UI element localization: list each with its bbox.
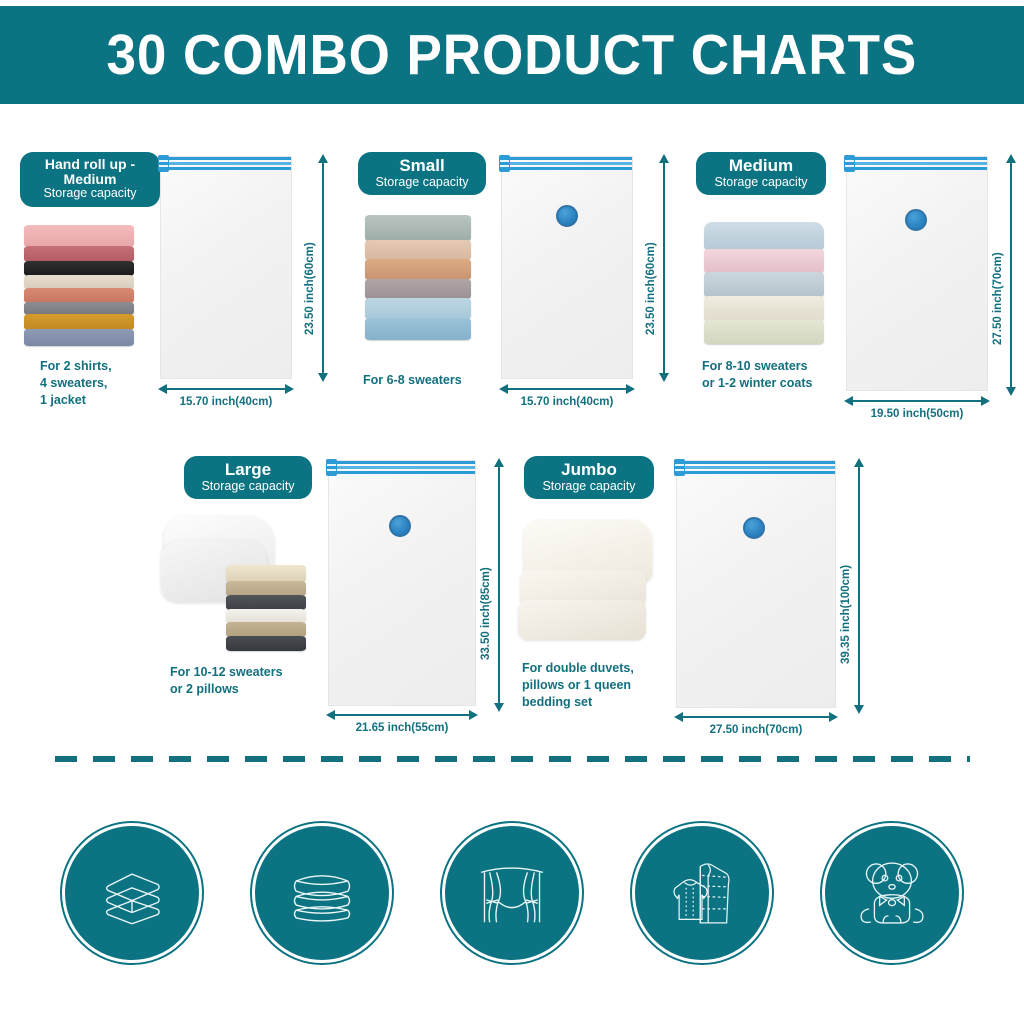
product-name: Medium (706, 157, 816, 175)
zipper-slider-icon (674, 459, 685, 476)
teddy-bear-icon (822, 823, 962, 963)
zipper-slider-icon (158, 155, 169, 172)
width-dimension-arrow (166, 388, 286, 390)
air-valve-icon (556, 205, 578, 227)
product-subtitle: Storage capacity (30, 187, 150, 200)
product-name: Large (194, 461, 302, 479)
dashed-divider (55, 756, 970, 762)
air-valve-icon (389, 515, 411, 537)
header-banner: 30 COMBO PRODUCT CHARTS (0, 6, 1024, 104)
height-dimension-arrow (322, 162, 324, 374)
height-dimension-label: 27.50 inch(70cm) (992, 252, 1004, 345)
width-dimension-arrow (334, 714, 470, 716)
product-label-pill: Jumbo Storage capacity (524, 456, 654, 499)
product-card-large: Large Storage capacity For 10-12 sweater… (160, 452, 500, 732)
goods-illustration-folded-duvet (518, 520, 658, 652)
width-dimension-arrow (682, 716, 830, 718)
width-dimension-arrow (852, 400, 982, 402)
product-subtitle: Storage capacity (194, 480, 302, 493)
width-dimension-arrow (507, 388, 627, 390)
zipper-strip (847, 157, 987, 170)
product-subtitle: Storage capacity (706, 176, 816, 189)
product-name: Small (368, 157, 476, 175)
zipper-strip (329, 461, 475, 474)
product-label-pill: Medium Storage capacity (696, 152, 826, 195)
width-dimension-label: 27.50 inch(70cm) (676, 724, 836, 736)
storage-bag (328, 460, 476, 706)
height-dimension-arrow (1010, 162, 1012, 388)
page-title: 30 COMBO PRODUCT CHARTS (107, 22, 918, 88)
capacity-description: For 2 shirts, 4 sweaters, 1 jacket (40, 358, 170, 409)
pillows-icon (252, 823, 392, 963)
height-dimension-arrow (663, 162, 665, 374)
height-dimension-label: 23.50 inch(60cm) (645, 242, 657, 335)
product-card-medium: Medium Storage capacity For 8-10 sweater… (694, 148, 1024, 423)
goods-illustration-folded-blankets (704, 216, 824, 344)
width-dimension-label: 19.50 inch(50cm) (846, 408, 988, 420)
height-dimension-label: 23.50 inch(60cm) (304, 242, 316, 335)
zipper-strip (502, 157, 632, 170)
air-valve-icon (905, 209, 927, 231)
sweater-jacket-icon (632, 823, 772, 963)
height-dimension-arrow (858, 466, 860, 706)
zipper-slider-icon (844, 155, 855, 172)
goods-illustration-folded-sweaters (365, 210, 471, 340)
air-valve-icon (743, 517, 765, 539)
goods-illustration-folded-clothes (24, 216, 134, 346)
product-chart-page: 30 COMBO PRODUCT CHARTS Hand roll up -Me… (0, 0, 1024, 1024)
goods-illustration-pillow-and-towels (160, 510, 312, 660)
zipper-strip (161, 157, 291, 170)
width-dimension-label: 15.70 inch(40cm) (160, 396, 292, 408)
folded-blankets-icon (62, 823, 202, 963)
zipper-strip (677, 461, 835, 474)
product-name: Hand roll up -Medium (30, 157, 150, 186)
height-dimension-label: 33.50 inch(85cm) (480, 567, 492, 660)
product-subtitle: Storage capacity (534, 480, 644, 493)
product-card-small: Small Storage capacity For 6-8 sweaters … (355, 148, 685, 423)
zipper-slider-icon (326, 459, 337, 476)
width-dimension-label: 21.65 inch(55cm) (328, 722, 476, 734)
zipper-slider-icon (499, 155, 510, 172)
usage-icon-row (0, 818, 1024, 968)
product-card-hand-roll-up: Hand roll up -Medium Storage capacity Fo… (14, 148, 344, 423)
product-label-pill: Hand roll up -Medium Storage capacity (20, 152, 160, 207)
height-dimension-label: 39.35 inch(100cm) (840, 565, 852, 664)
curtains-icon (442, 823, 582, 963)
product-name: Jumbo (534, 461, 644, 479)
product-label-pill: Small Storage capacity (358, 152, 486, 195)
storage-bag (676, 460, 836, 708)
product-label-pill: Large Storage capacity (184, 456, 312, 499)
storage-bag (160, 156, 292, 379)
width-dimension-label: 15.70 inch(40cm) (501, 396, 633, 408)
product-subtitle: Storage capacity (368, 176, 476, 189)
height-dimension-arrow (498, 466, 500, 704)
storage-bag (501, 156, 633, 379)
product-card-jumbo: Jumbo Storage capacity For double duvets… (510, 452, 860, 732)
storage-bag (846, 156, 988, 391)
